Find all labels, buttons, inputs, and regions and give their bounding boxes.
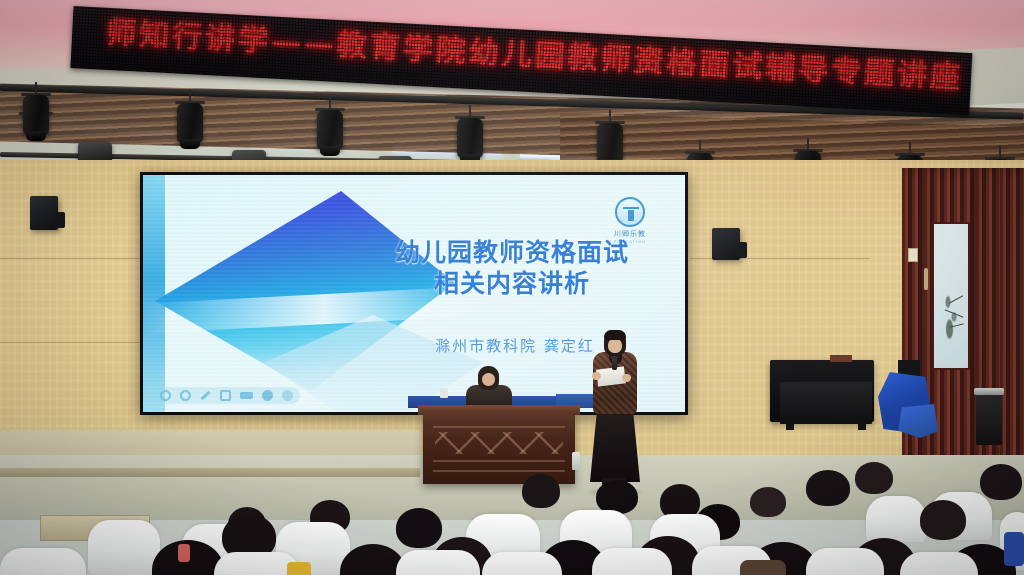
speaker-face xyxy=(608,338,622,353)
more-options-icon[interactable] xyxy=(282,390,293,401)
audience-head xyxy=(396,508,442,548)
podium-trim-line xyxy=(433,426,565,428)
audience-head xyxy=(750,487,786,517)
slide-left-accent-band xyxy=(143,175,165,412)
slide-title: 幼儿园教师资格面试 相关内容讲析 xyxy=(361,237,663,299)
speaker-hand xyxy=(592,372,601,380)
audience-seat xyxy=(0,548,86,575)
spotlight-body xyxy=(457,118,483,158)
audience-jacket xyxy=(1004,532,1024,566)
slide-menu-icon[interactable] xyxy=(262,390,273,401)
spotlight-body xyxy=(317,110,343,150)
speaker-hair xyxy=(604,330,626,340)
spotlight-body xyxy=(597,123,623,163)
pen-annotation-icon[interactable] xyxy=(200,391,210,401)
audience-head xyxy=(980,464,1022,500)
slide-title-line-2: 相关内容讲析 xyxy=(361,268,663,299)
spotlight-lens xyxy=(320,146,340,156)
spotlight-lens xyxy=(180,139,200,149)
object-on-piano xyxy=(830,355,852,362)
seated-host-face xyxy=(482,373,495,386)
audience-seat xyxy=(482,552,562,575)
piano-front-panel xyxy=(780,382,872,424)
audience-bag xyxy=(287,562,311,575)
audience-head xyxy=(522,474,560,508)
slide-title-line-1: 幼儿园教师资格面试 xyxy=(361,237,663,268)
trash-bin-lid xyxy=(974,388,1004,395)
glass-branch-art xyxy=(936,284,966,344)
piano-leg xyxy=(858,420,866,430)
wall-speaker xyxy=(712,228,740,260)
auditorium-photo: 师知行讲学——教育学院幼儿园教师资格面试辅导专题讲座 川卿乐教 EDUC xyxy=(0,0,1024,575)
audience-head xyxy=(920,500,966,540)
audience-head xyxy=(855,462,893,494)
speaker-hand xyxy=(622,374,631,382)
wall-seam xyxy=(0,258,140,259)
audience-hand-raised xyxy=(178,544,190,562)
spotlight-body xyxy=(177,103,203,143)
previous-slide-icon[interactable] xyxy=(160,390,171,401)
podium-zigzag-inlay xyxy=(435,432,563,454)
spotlight-body xyxy=(23,95,49,135)
audience-seat xyxy=(592,548,672,575)
spotlight-lens xyxy=(26,131,46,141)
trash-bin xyxy=(976,393,1002,445)
wood-column xyxy=(1000,168,1024,468)
wall-notice xyxy=(908,248,918,262)
audience-area xyxy=(0,452,1024,575)
panel-handle[interactable] xyxy=(924,268,928,290)
audience-head xyxy=(596,480,638,514)
institution-logo-icon xyxy=(615,197,645,227)
blank-screen-icon[interactable] xyxy=(240,392,253,399)
piano-leg xyxy=(786,420,794,430)
decorative-glass-panel xyxy=(932,222,970,370)
audience-head xyxy=(806,470,850,506)
next-slide-icon[interactable] xyxy=(180,390,191,401)
wall-seam xyxy=(0,342,140,343)
water-cup xyxy=(440,388,448,398)
audience-seat xyxy=(396,550,480,575)
wall-speaker xyxy=(30,196,58,230)
audience-jacket xyxy=(740,560,786,575)
presentation-toolbar[interactable] xyxy=(153,387,300,404)
audience-seat xyxy=(88,520,160,575)
audience-seat xyxy=(866,496,926,542)
audience-seat xyxy=(900,552,978,575)
audience-seat xyxy=(806,548,884,575)
pointer-zoom-icon[interactable] xyxy=(220,390,231,401)
